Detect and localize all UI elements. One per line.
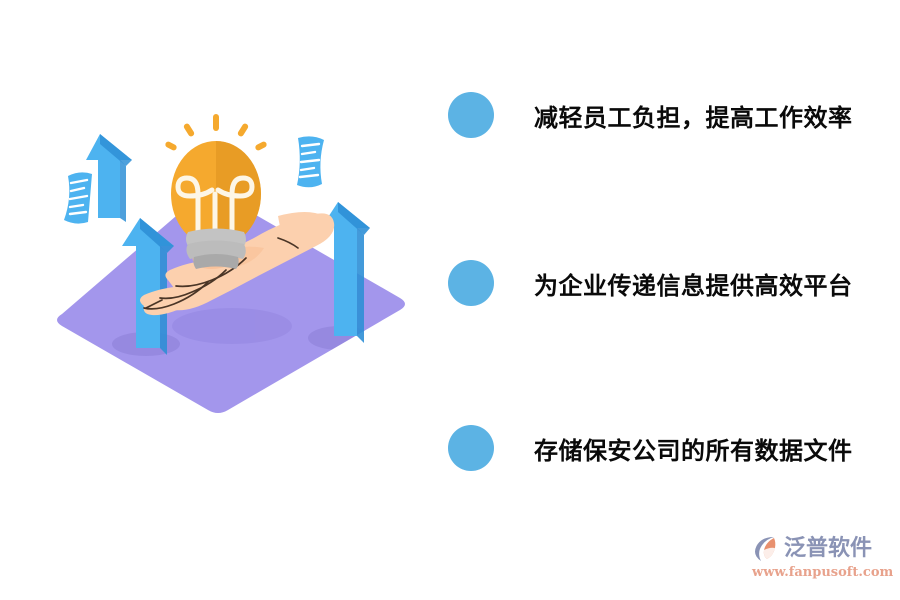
list-item[interactable]: 存储保安公司的所有数据文件 — [440, 418, 890, 478]
infographic-canvas: 减轻员工负担，提高工作效率 为企业传递信息提供高效平台 存储保安公司的所有数据文… — [0, 0, 900, 600]
list-item-label: 减轻员工负担，提高工作效率 — [534, 98, 890, 133]
brand-name: 泛普软件 — [784, 534, 884, 564]
list-item-label: 为企业传递信息提供高效平台 — [534, 266, 890, 301]
paper-document-left-icon — [64, 172, 92, 223]
paper-document-right-icon — [297, 136, 324, 187]
bullet-dot-icon — [448, 425, 494, 471]
list-item[interactable]: 减轻员工负担，提高工作效率 — [440, 85, 890, 145]
list-item[interactable]: 为企业传递信息提供高效平台 — [440, 253, 890, 313]
brand-logo-top: 泛普软件 — [752, 532, 884, 566]
list-item-label: 存储保安公司的所有数据文件 — [534, 431, 890, 466]
bullet-dot-icon — [448, 260, 494, 306]
illustration-hand-lightbulb — [40, 110, 440, 430]
bullet-dot-icon — [448, 92, 494, 138]
arrow-up-left-back-icon — [86, 134, 132, 222]
fanpu-logo-mark-icon — [752, 534, 782, 564]
brand-logo[interactable]: 泛普软件 www.fanpusoft.com — [752, 532, 884, 588]
benefits-list: 减轻员工负担，提高工作效率 为企业传递信息提供高效平台 存储保安公司的所有数据文… — [440, 70, 890, 490]
brand-url: www.fanpusoft.com — [752, 565, 884, 580]
